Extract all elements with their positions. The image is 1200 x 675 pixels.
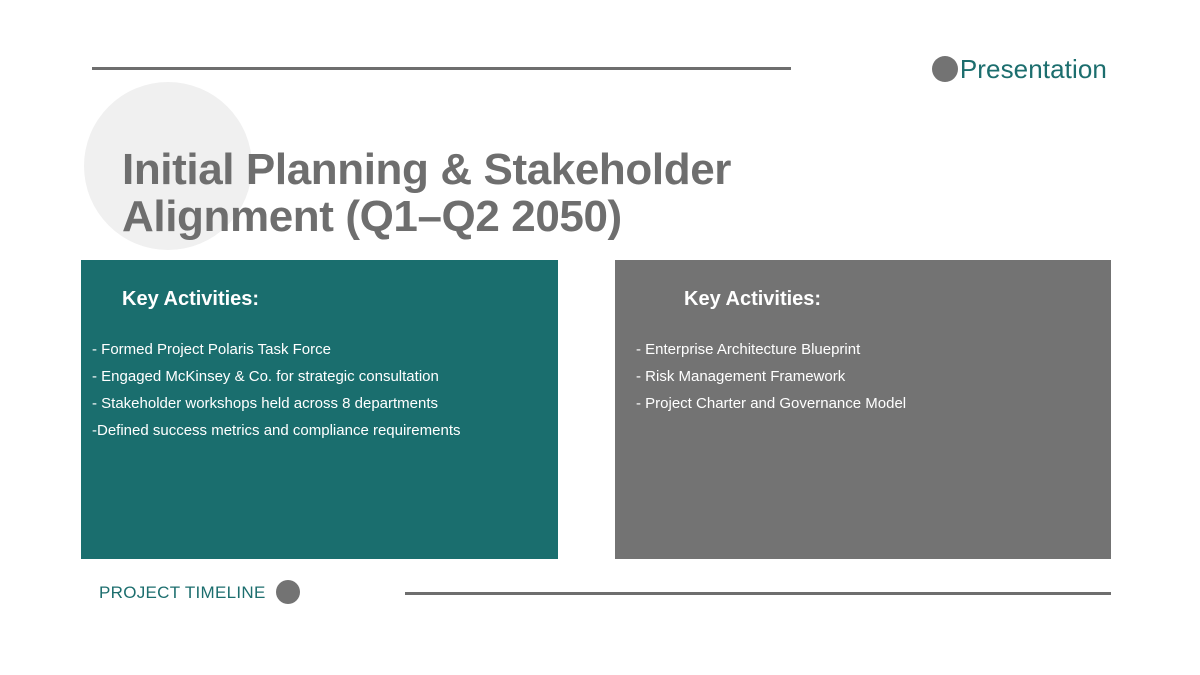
footer-label: PROJECT TIMELINE bbox=[99, 584, 266, 601]
circle-icon bbox=[276, 580, 300, 604]
list-item: - Project Charter and Governance Model bbox=[636, 390, 1087, 417]
brand-badge: Presentation bbox=[932, 56, 1107, 82]
list-item: - Engaged McKinsey & Co. for strategic c… bbox=[92, 363, 534, 390]
card-list-left: - Formed Project Polaris Task Force - En… bbox=[92, 336, 534, 444]
card-heading-left: Key Activities: bbox=[122, 288, 534, 310]
key-activities-card-right: Key Activities: - Enterprise Architectur… bbox=[615, 260, 1111, 559]
top-divider-rule bbox=[92, 67, 791, 70]
card-heading-right: Key Activities: bbox=[684, 288, 1087, 310]
footer-label-group: PROJECT TIMELINE bbox=[99, 580, 300, 604]
card-list-right: - Enterprise Architecture Blueprint - Ri… bbox=[636, 336, 1087, 417]
brand-label: Presentation bbox=[960, 56, 1107, 82]
key-activities-card-left: Key Activities: - Formed Project Polaris… bbox=[81, 260, 558, 559]
list-item: - Enterprise Architecture Blueprint bbox=[636, 336, 1087, 363]
presentation-slide: Presentation Initial Planning & Stakehol… bbox=[0, 0, 1200, 675]
bottom-divider-rule bbox=[405, 592, 1111, 595]
list-item: - Risk Management Framework bbox=[636, 363, 1087, 390]
list-item: - Formed Project Polaris Task Force bbox=[92, 336, 534, 363]
list-item: -Defined success metrics and compliance … bbox=[92, 417, 534, 444]
page-title: Initial Planning & Stakeholder Alignment… bbox=[122, 147, 912, 240]
list-item: - Stakeholder workshops held across 8 de… bbox=[92, 390, 534, 417]
circle-icon bbox=[932, 56, 958, 82]
